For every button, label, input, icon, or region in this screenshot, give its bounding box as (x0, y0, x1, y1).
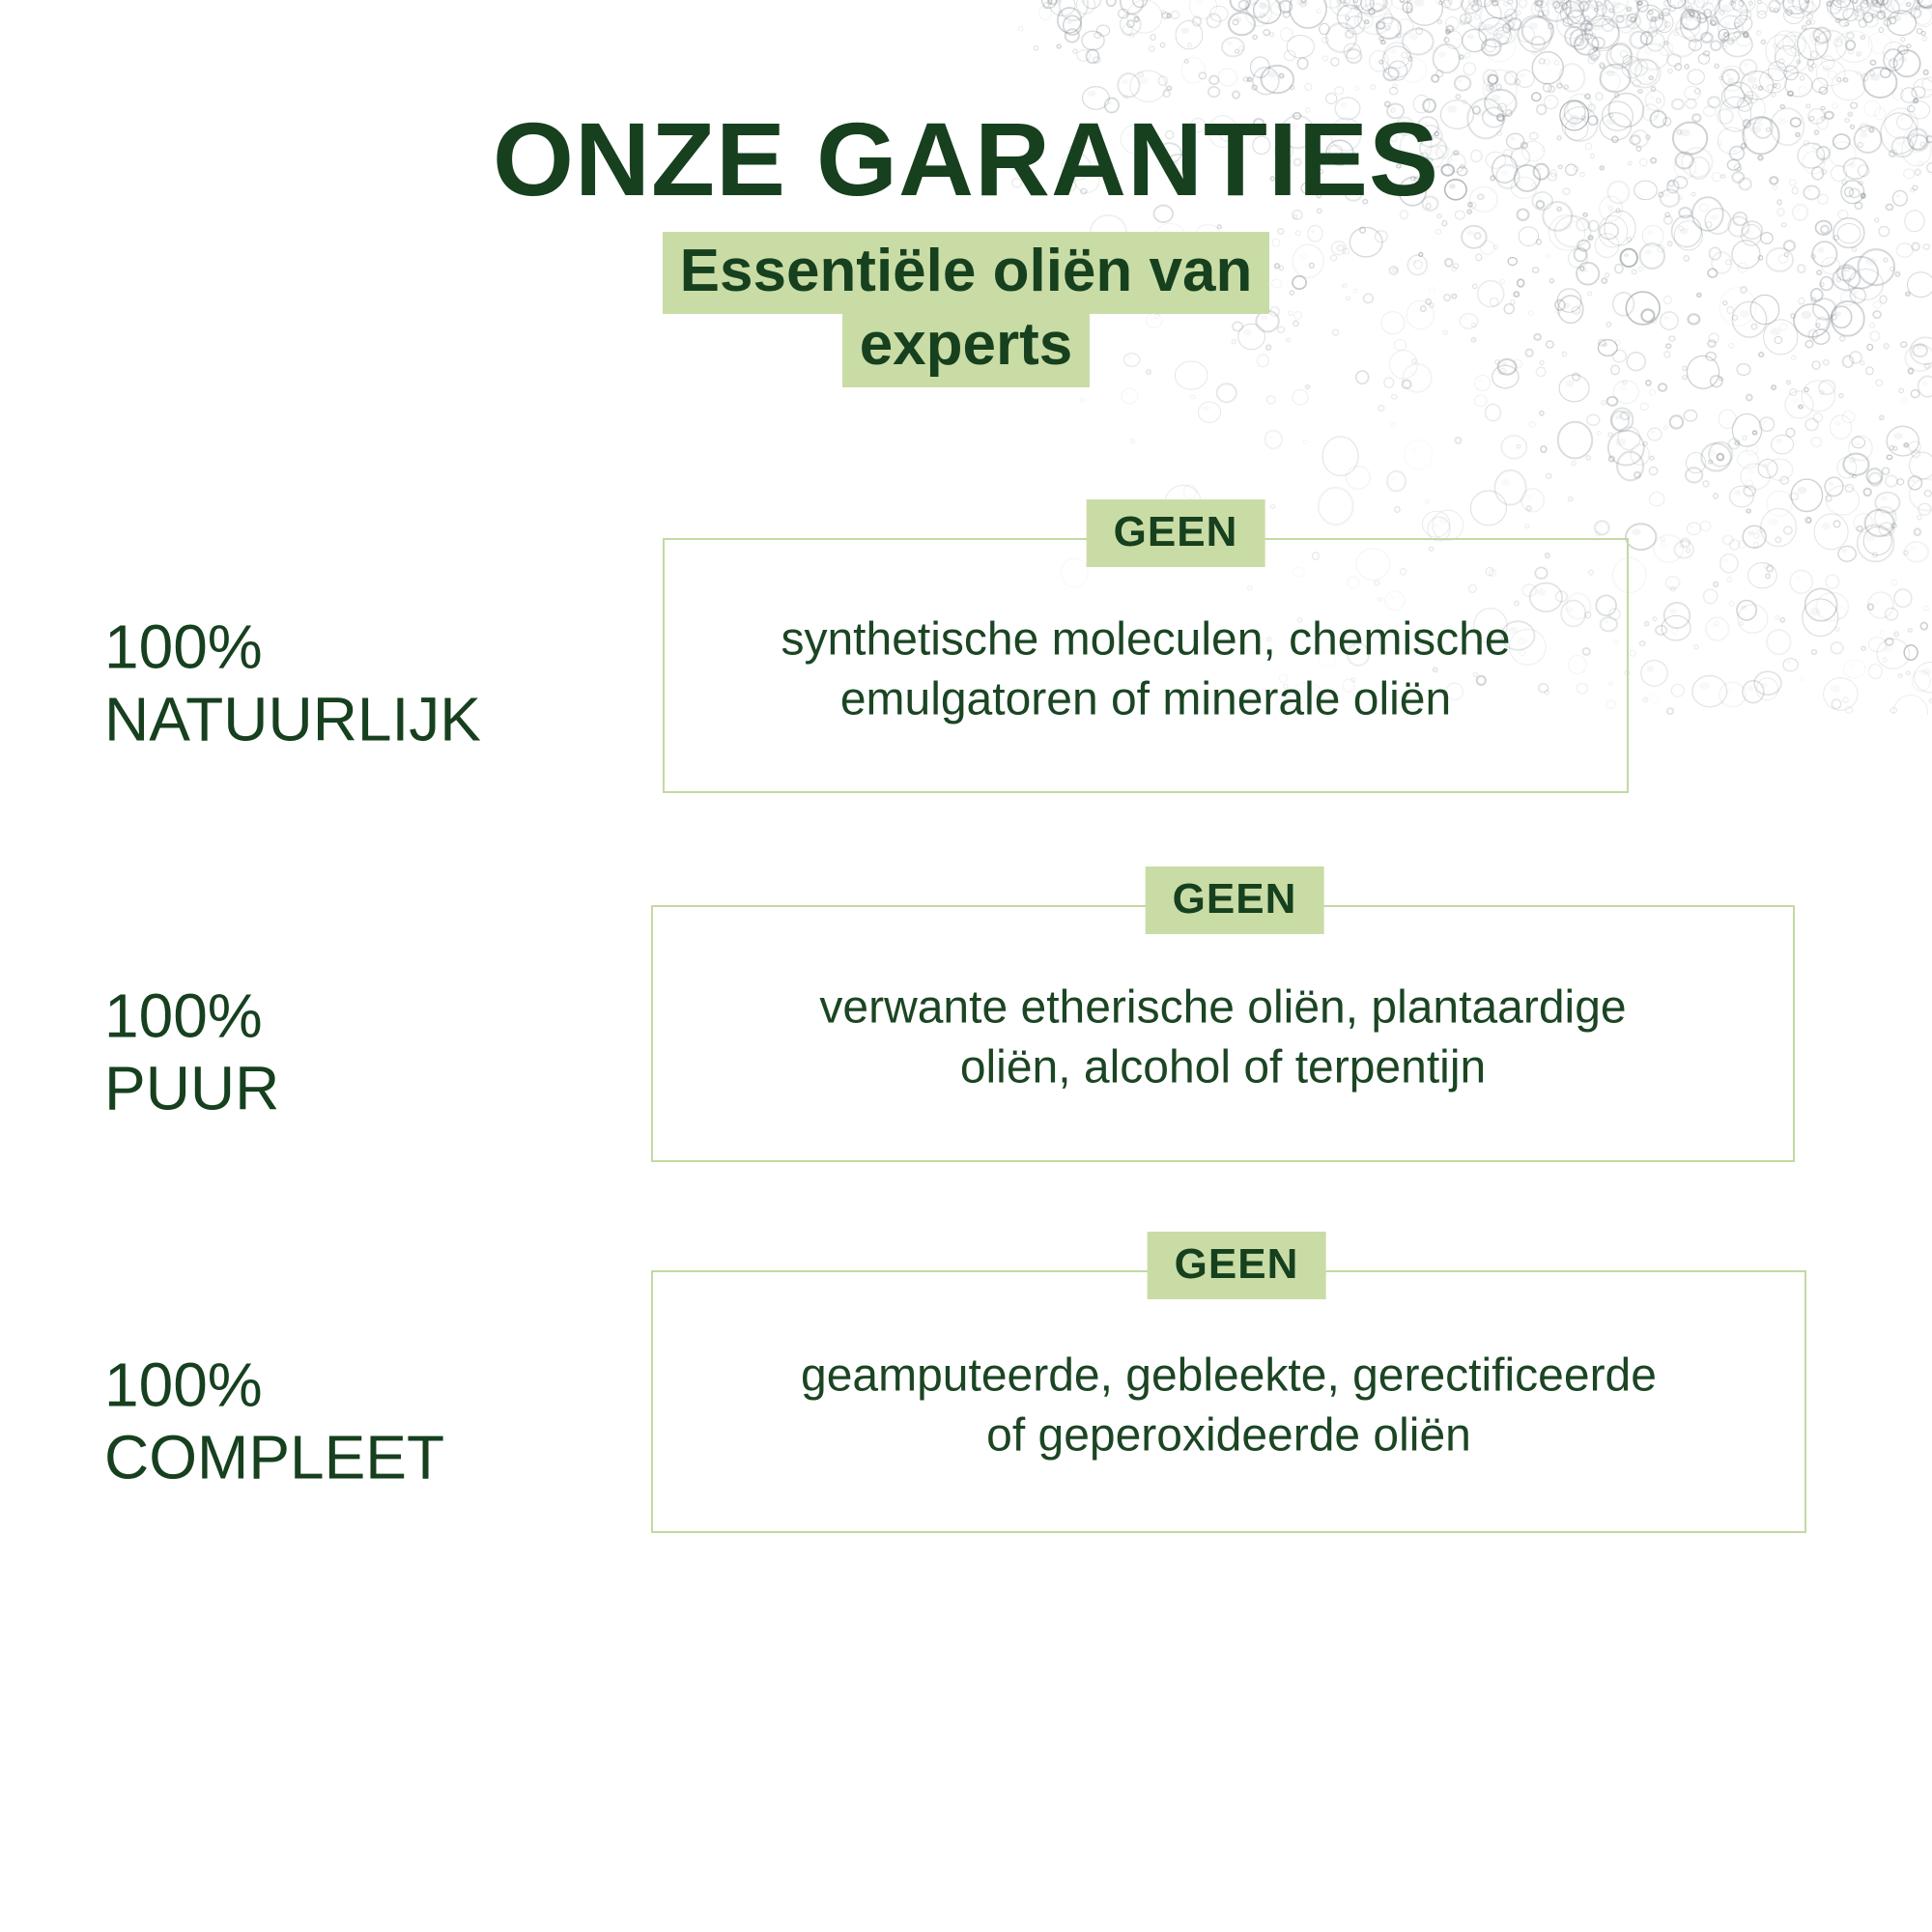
guarantee-label-natuurlijk: 100% NATUURLIJK (104, 611, 481, 756)
guarantee-list: 100% NATUURLIJK GEEN synthetische molecu… (0, 499, 1932, 1606)
page-subtitle: Essentiële oliën van experts (0, 235, 1932, 381)
subtitle-line-2: experts (0, 308, 1932, 382)
guarantee-box-compleet: GEEN geamputeerde, gebleekte, gerectific… (651, 1270, 1806, 1533)
geen-badge-puur: GEEN (1146, 867, 1324, 934)
guarantee-text-puur: verwante etherische oliën, plantaardige … (653, 978, 1793, 1098)
guarantee-box-natuurlijk: GEEN synthetische moleculen, chemische e… (663, 538, 1629, 793)
guarantee-row-natuurlijk: 100% NATUURLIJK GEEN synthetische molecu… (0, 499, 1932, 868)
guarantee-label-puur: 100% PUUR (104, 980, 279, 1125)
guarantee-row-puur: 100% PUUR GEEN verwante etherische oliën… (0, 868, 1932, 1237)
guarantee-label-compleet: 100% COMPLEET (104, 1349, 444, 1494)
geen-badge-natuurlijk: GEEN (1087, 499, 1265, 567)
guarantee-row-compleet: 100% COMPLEET GEEN geamputeerde, gebleek… (0, 1237, 1932, 1606)
page-header: ONZE GARANTIES Essentiële oliën van expe… (0, 0, 1932, 382)
geen-badge-compleet: GEEN (1148, 1232, 1326, 1299)
guarantee-text-compleet: geamputeerde, gebleekte, gerectificeerde… (653, 1346, 1804, 1466)
subtitle-line-1: Essentiële oliën van (0, 235, 1932, 308)
guarantee-box-puur: GEEN verwante etherische oliën, plantaar… (651, 905, 1795, 1162)
page-title: ONZE GARANTIES (0, 104, 1932, 213)
guarantee-text-natuurlijk: synthetische moleculen, chemische emulga… (665, 610, 1627, 730)
